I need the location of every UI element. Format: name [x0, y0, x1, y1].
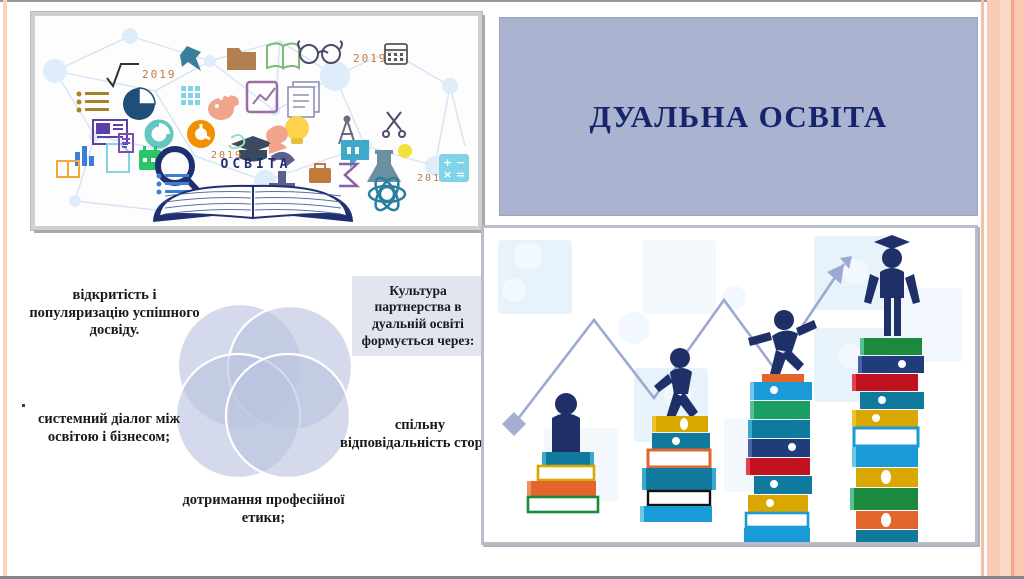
book [748, 439, 810, 457]
book [852, 410, 918, 427]
book [642, 468, 716, 490]
bullet-dialogue: системний діалог між освітою і бізнесом; [14, 411, 204, 446]
book [528, 497, 598, 512]
bullet-openness: відкритість і популяризацію успішного до… [22, 287, 207, 340]
pie-chart-icon [123, 88, 155, 120]
math-symbols-icon: +− ×= [439, 154, 469, 182]
collage-canvas: 2019 2019 [35, 16, 478, 226]
book [648, 450, 710, 467]
book [854, 428, 918, 446]
bullet-shared-responsibility: спільну відповідальність сторін; [340, 417, 500, 452]
book [850, 488, 918, 510]
book [744, 528, 810, 542]
book [652, 433, 710, 449]
book [762, 374, 804, 382]
book-stack-3 [744, 374, 812, 542]
center-statement-text: Культура партнерства в дуальній освіті ф… [352, 283, 484, 350]
book [542, 452, 594, 465]
book [748, 420, 810, 438]
slide-title-box: ДУАЛЬНА ОСВІТА [499, 17, 978, 216]
book [652, 416, 708, 432]
collage-graphic: 2019 2019 [35, 16, 478, 226]
book [640, 506, 712, 522]
book [750, 401, 810, 419]
book [852, 447, 918, 467]
decor-band-left [3, 0, 7, 579]
center-statement-box: Культура партнерства в дуальній освіті ф… [352, 276, 484, 356]
list-icon [77, 92, 110, 113]
book [746, 513, 808, 527]
book [856, 468, 918, 487]
book [852, 374, 918, 391]
svg-text:=: = [456, 168, 465, 181]
decor-band-right-3 [1000, 0, 1011, 579]
book [746, 458, 810, 475]
svg-text:×: × [443, 168, 452, 181]
bullet-ethics: дотримання професійної етики; [176, 492, 351, 527]
education-collage-image: 2019 2019 [31, 12, 482, 230]
book [648, 491, 710, 505]
book [856, 511, 918, 529]
list-blue-icon [157, 174, 190, 195]
slide-top-border [0, 0, 1024, 2]
book [860, 392, 924, 409]
book [750, 382, 812, 400]
book [754, 476, 812, 494]
year-label-2: 2019 [353, 52, 388, 65]
book [538, 466, 594, 480]
book [748, 495, 808, 512]
year-label-1: 2019 [142, 68, 177, 81]
page-title: ДУАЛЬНА ОСВІТА [589, 99, 887, 135]
slide-canvas: 2019 2019 [0, 0, 1024, 579]
book [527, 481, 596, 496]
decor-band-right-1 [981, 0, 984, 579]
book [860, 338, 922, 355]
grid-icon [181, 86, 200, 105]
donut-chart-orange-icon [191, 124, 211, 144]
book [858, 356, 924, 373]
collage-caption: ОСВІТА [221, 157, 292, 172]
documents-icon [288, 82, 319, 117]
book-stacks-illustration [481, 225, 978, 545]
venn-circle-4 [226, 354, 350, 478]
book-stack-4 [850, 338, 924, 542]
book [856, 530, 918, 542]
decor-band-right-5 [1014, 0, 1024, 579]
bullet-marker-dot [22, 404, 25, 407]
book-stacks-graphic [484, 228, 975, 542]
decor-band-right-2 [987, 0, 1000, 579]
figure-sitting [552, 393, 580, 452]
donut-chart-icon [148, 123, 170, 145]
